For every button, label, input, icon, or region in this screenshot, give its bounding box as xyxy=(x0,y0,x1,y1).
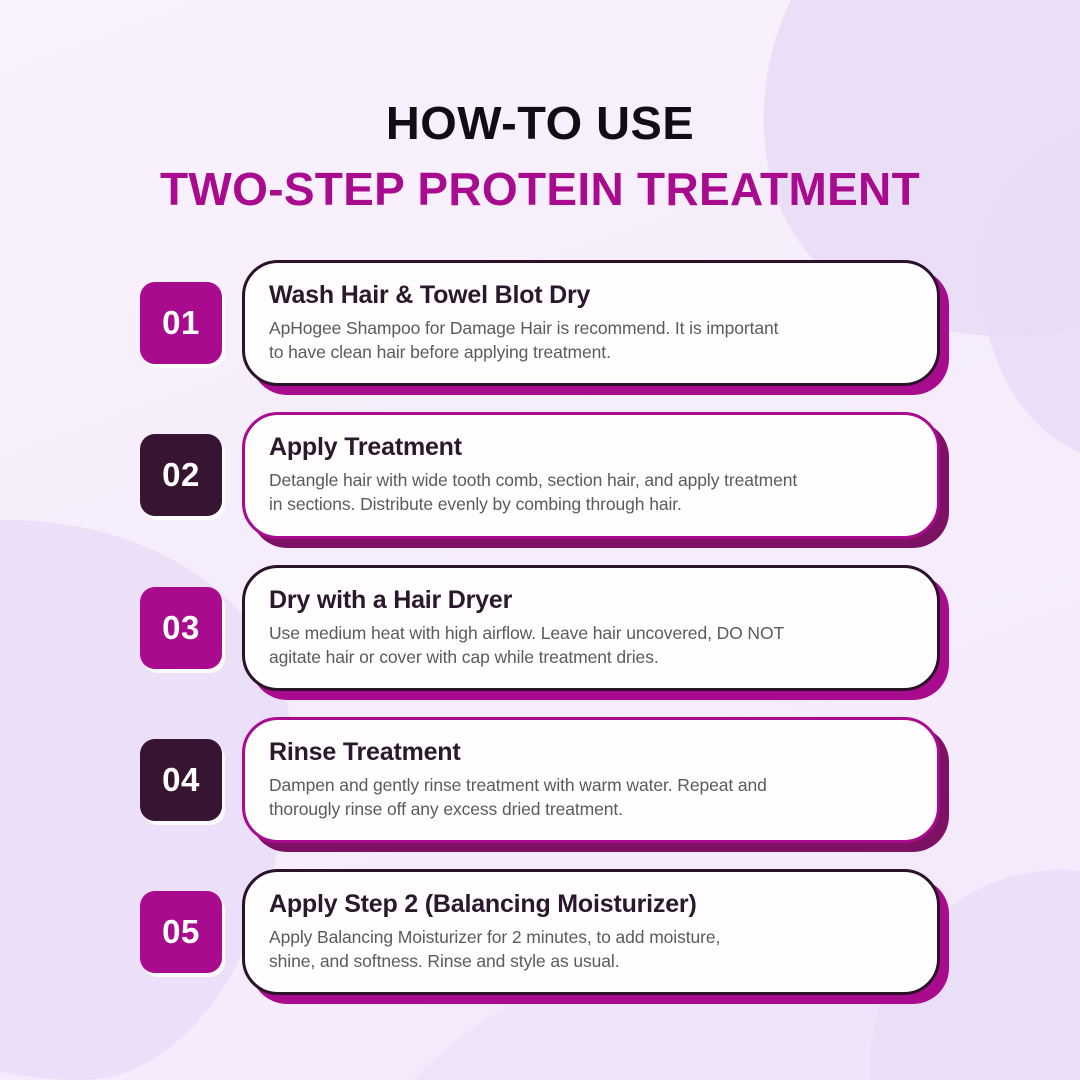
step-title: Wash Hair & Towel Blot Dry xyxy=(269,280,907,310)
step-description-line: Dampen and gently rinse treatment with w… xyxy=(269,773,907,797)
step-number-badge: 02 xyxy=(140,434,222,516)
step-title: Apply Treatment xyxy=(269,432,907,462)
step-description: Dampen and gently rinse treatment with w… xyxy=(269,773,907,821)
step-item: 05Apply Step 2 (Balancing Moisturizer)Ap… xyxy=(140,869,940,995)
step-card: Apply Step 2 (Balancing Moisturizer)Appl… xyxy=(242,869,940,995)
step-item: 02Apply TreatmentDetangle hair with wide… xyxy=(140,412,940,538)
step-description-line: ApHogee Shampoo for Damage Hair is recom… xyxy=(269,316,907,340)
step-title: Rinse Treatment xyxy=(269,737,907,767)
step-number-badge: 03 xyxy=(140,587,222,669)
page-title-top: HOW-TO USE xyxy=(0,100,1080,146)
step-card: Dry with a Hair DryerUse medium heat wit… xyxy=(242,565,940,691)
step-title: Apply Step 2 (Balancing Moisturizer) xyxy=(269,889,907,919)
step-description: Use medium heat with high airflow. Leave… xyxy=(269,621,907,669)
step-description-line: to have clean hair before applying treat… xyxy=(269,340,907,364)
step-description-line: thorougly rinse off any excess dried tre… xyxy=(269,797,907,821)
step-description-line: agitate hair or cover with cap while tre… xyxy=(269,645,907,669)
step-card: Wash Hair & Towel Blot DryApHogee Shampo… xyxy=(242,260,940,386)
infographic-poster: HOW-TO USE TWO-STEP PROTEIN TREATMENT 01… xyxy=(0,0,1080,1080)
step-number-badge: 01 xyxy=(140,282,222,364)
step-description-line: Detangle hair with wide tooth comb, sect… xyxy=(269,468,907,492)
step-description: ApHogee Shampoo for Damage Hair is recom… xyxy=(269,316,907,364)
step-description-line: in sections. Distribute evenly by combin… xyxy=(269,492,907,516)
step-number-badge: 04 xyxy=(140,739,222,821)
step-description: Apply Balancing Moisturizer for 2 minute… xyxy=(269,925,907,973)
poster-header: HOW-TO USE TWO-STEP PROTEIN TREATMENT xyxy=(0,0,1080,212)
step-description-line: Use medium heat with high airflow. Leave… xyxy=(269,621,907,645)
step-description: Detangle hair with wide tooth comb, sect… xyxy=(269,468,907,516)
step-title: Dry with a Hair Dryer xyxy=(269,585,907,615)
steps-list: 01Wash Hair & Towel Blot DryApHogee Sham… xyxy=(140,260,940,995)
step-item: 04Rinse TreatmentDampen and gently rinse… xyxy=(140,717,940,843)
page-title-subtitle: TWO-STEP PROTEIN TREATMENT xyxy=(0,166,1080,212)
step-description-line: Apply Balancing Moisturizer for 2 minute… xyxy=(269,925,907,949)
step-item: 03Dry with a Hair DryerUse medium heat w… xyxy=(140,565,940,691)
step-item: 01Wash Hair & Towel Blot DryApHogee Sham… xyxy=(140,260,940,386)
step-description-line: shine, and softness. Rinse and style as … xyxy=(269,949,907,973)
step-number-badge: 05 xyxy=(140,891,222,973)
step-card: Rinse TreatmentDampen and gently rinse t… xyxy=(242,717,940,843)
step-card: Apply TreatmentDetangle hair with wide t… xyxy=(242,412,940,538)
